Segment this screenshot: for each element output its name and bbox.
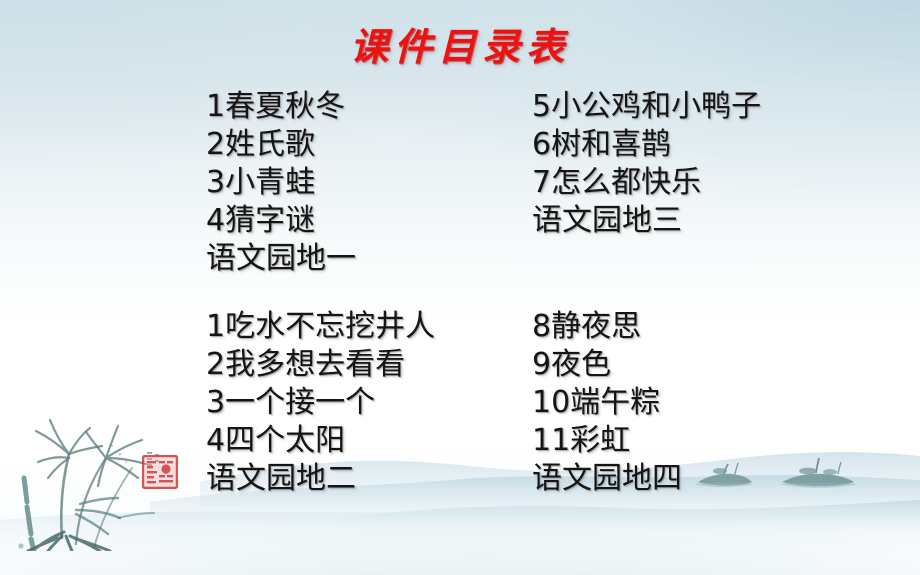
- toc-item[interactable]: 语文园地三: [532, 202, 761, 240]
- toc-column-unit3: 5小公鸡和小鸭子 6树和喜鹊 7怎么都快乐 语文园地三: [532, 88, 761, 240]
- toc-item[interactable]: 语文园地四: [532, 460, 682, 498]
- toc-item[interactable]: 3小青蛙: [206, 164, 356, 202]
- toc-item[interactable]: 语文园地一: [206, 240, 356, 278]
- toc-item[interactable]: 5小公鸡和小鸭子: [532, 88, 761, 126]
- red-seal-stamp-icon: [142, 455, 178, 489]
- toc-item[interactable]: 4四个太阳: [206, 422, 435, 460]
- toc-item[interactable]: 4猜字谜: [206, 202, 356, 240]
- toc-item[interactable]: 11彩虹: [532, 422, 682, 460]
- toc-column-unit2: 1吃水不忘挖井人 2我多想去看看 3一个接一个 4四个太阳 语文园地二: [206, 308, 435, 498]
- toc-item[interactable]: 2我多想去看看: [206, 346, 435, 384]
- toc-item[interactable]: 6树和喜鹊: [532, 126, 761, 164]
- toc-column-unit4: 8静夜思 9夜色 10端午粽 11彩虹 语文园地四: [532, 308, 682, 498]
- fishing-boats-icon: [694, 458, 874, 512]
- toc-item[interactable]: 3一个接一个: [206, 384, 435, 422]
- toc-item[interactable]: 语文园地二: [206, 460, 435, 498]
- toc-column-unit1: 1春夏秋冬 2姓氏歌 3小青蛙 4猜字谜 语文园地一: [206, 88, 356, 278]
- slide-title: 课件目录表: [0, 16, 920, 71]
- toc-item[interactable]: 10端午粽: [532, 384, 682, 422]
- toc-item[interactable]: 1吃水不忘挖井人: [206, 308, 435, 346]
- toc-item[interactable]: 8静夜思: [532, 308, 682, 346]
- toc-item[interactable]: 1春夏秋冬: [206, 88, 356, 126]
- slide-canvas: 课件目录表 1春夏秋冬 2姓氏歌 3小青蛙 4猜字谜 语文园地一 5小公鸡和小鸭…: [0, 0, 920, 575]
- toc-item[interactable]: 9夜色: [532, 346, 682, 384]
- toc-item[interactable]: 2姓氏歌: [206, 126, 356, 164]
- toc-item[interactable]: 7怎么都快乐: [532, 164, 761, 202]
